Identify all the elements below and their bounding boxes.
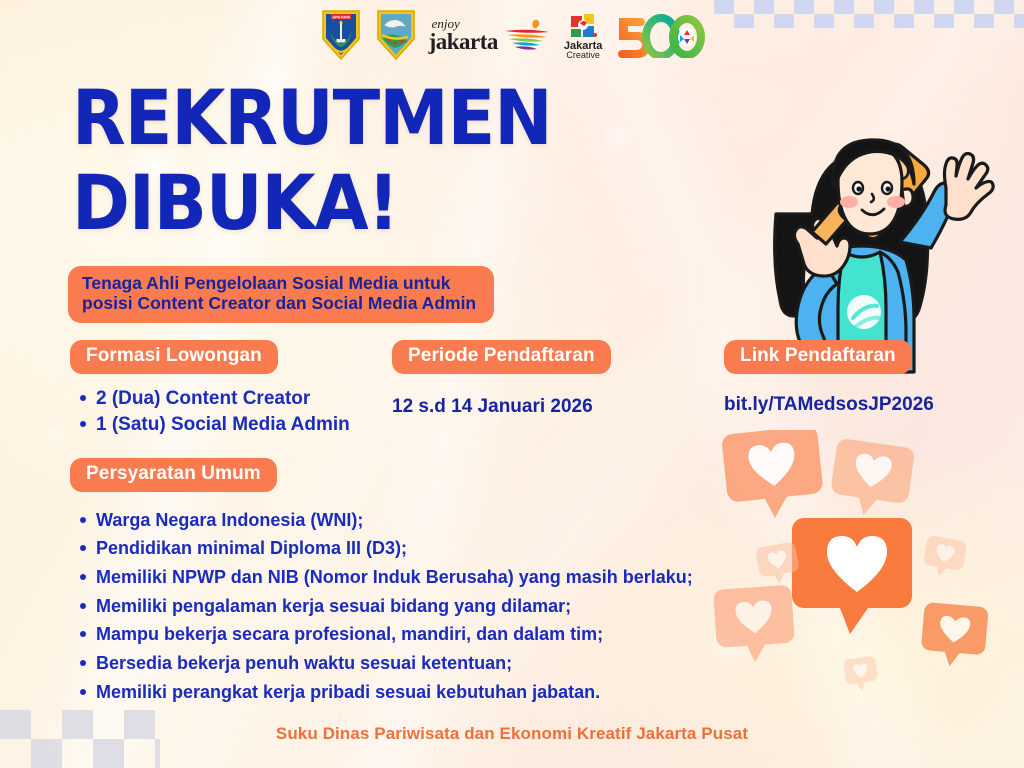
periode-pendaftaran-value: 12 s.d 14 Januari 2026	[392, 396, 611, 418]
formasi-lowongan-list: 2 (Dua) Content Creator 1 (Satu) Social …	[70, 386, 350, 438]
footer-text: Suku Dinas Pariwisata dan Ekonomi Kreati…	[0, 724, 1024, 744]
heart-bubbles-icon	[714, 430, 1024, 720]
jakarta-creative-icon	[567, 10, 599, 40]
background-bokeh-glow	[600, 120, 634, 154]
jakarta-pusat-crest-logo	[374, 9, 418, 61]
jakarta-500-icon	[613, 12, 705, 58]
svg-text:JAYA RAYA: JAYA RAYA	[331, 15, 350, 19]
list-item: Memiliki pengalaman kerja sesuai bidang …	[96, 592, 693, 621]
persyaratan-umum-heading: Persyaratan Umum	[70, 458, 277, 492]
logo-bar: JAYA RAYA enjoy j	[0, 7, 1024, 63]
list-item: Pendidikan minimal Diploma III (D3);	[96, 534, 693, 563]
registration-link[interactable]: bit.ly/TAMedsosJP2026	[724, 394, 934, 416]
headline-line-2: DIBUKA!	[72, 167, 552, 240]
formasi-lowongan-heading: Formasi Lowongan	[70, 340, 278, 374]
dki-jakarta-crest-icon: JAYA RAYA	[319, 9, 363, 61]
periode-pendaftaran-section: Periode Pendaftaran 12 s.d 14 Januari 20…	[392, 340, 611, 418]
list-item: Warga Negara Indonesia (WNI);	[96, 506, 693, 535]
heart-like-bubbles	[714, 430, 1024, 720]
jakarta-creative-line2: Creative	[564, 51, 603, 60]
list-item: Mampu bekerja secara profesional, mandir…	[96, 620, 693, 649]
list-item: Bersedia bekerja penuh waktu sesuai kete…	[96, 649, 693, 678]
link-pendaftaran-heading: Link Pendaftaran	[724, 340, 912, 374]
periode-pendaftaran-heading: Periode Pendaftaran	[392, 340, 611, 374]
enjoy-jakarta-line2: jakarta	[429, 30, 498, 53]
dki-jakarta-crest-logo: JAYA RAYA	[319, 9, 363, 61]
list-item: 2 (Dua) Content Creator	[96, 386, 350, 412]
jakarta-500-logo	[613, 12, 705, 58]
subtitle-line-2: posisi Content Creator dan Social Media …	[82, 293, 476, 313]
enjoy-jakarta-swoosh-icon	[503, 18, 553, 52]
background-bokeh-glow	[40, 420, 70, 450]
recruitment-poster: JAYA RAYA enjoy j	[0, 0, 1024, 768]
list-item: Memiliki perangkat kerja pribadi sesuai …	[96, 678, 693, 707]
link-pendaftaran-section: Link Pendaftaran bit.ly/TAMedsosJP2026	[724, 340, 934, 416]
subtitle-band: Tenaga Ahli Pengelolaan Sosial Media unt…	[68, 266, 494, 323]
persyaratan-umum-list: Warga Negara Indonesia (WNI); Pendidikan…	[70, 506, 693, 706]
subtitle-line-1: Tenaga Ahli Pengelolaan Sosial Media unt…	[82, 273, 476, 293]
jakarta-creative-logo: Jakarta Creative	[564, 10, 603, 60]
headline-line-1: REKRUTMEN	[72, 82, 552, 155]
enjoy-jakarta-logo: enjoy jakarta	[429, 17, 553, 53]
page-title: REKRUTMEN DIBUKA!	[72, 82, 542, 240]
list-item: Memiliki NPWP dan NIB (Nomor Induk Berus…	[96, 563, 693, 592]
jakarta-pusat-crest-icon	[374, 9, 418, 61]
list-item: 1 (Satu) Social Media Admin	[96, 412, 350, 438]
formasi-lowongan-section: Formasi Lowongan 2 (Dua) Content Creator…	[70, 340, 350, 438]
persyaratan-umum-section: Persyaratan Umum Warga Negara Indonesia …	[70, 458, 693, 706]
